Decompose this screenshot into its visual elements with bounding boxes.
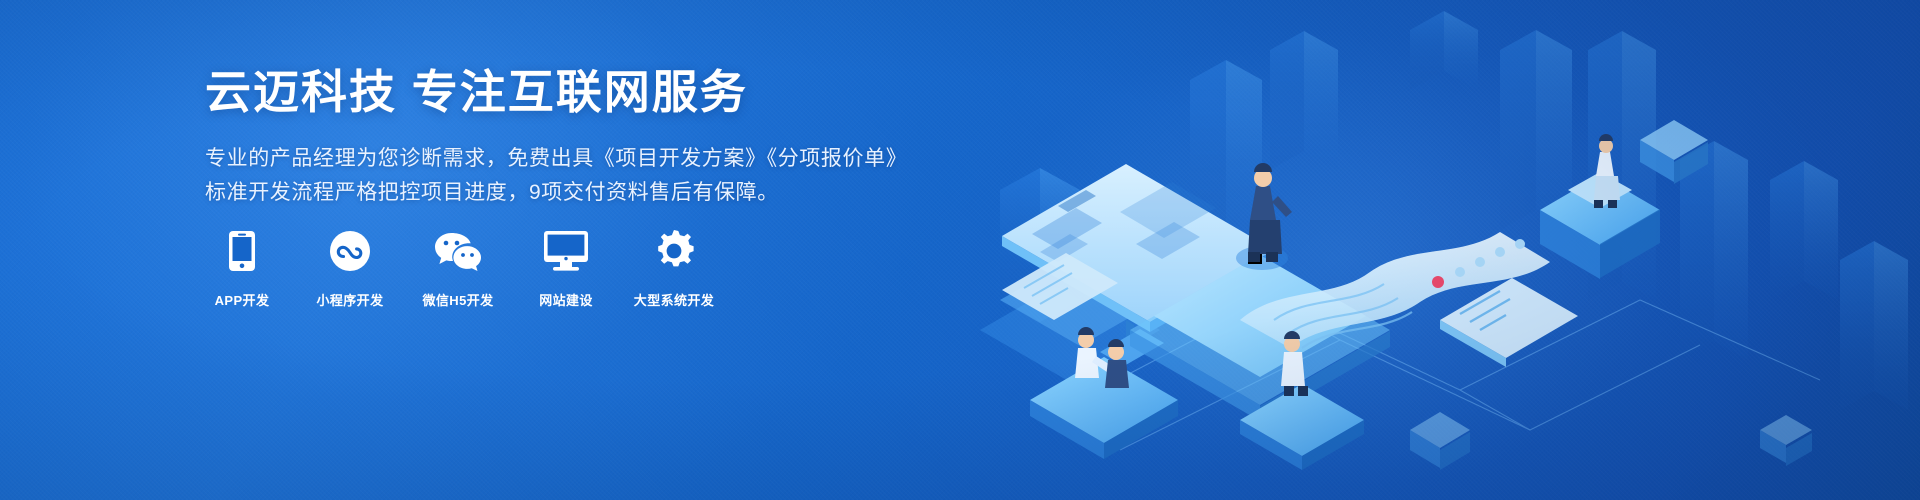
mini-program-icon [329,228,371,274]
service-label-large-system: 大型系统开发 [634,290,714,309]
service-item-website[interactable]: 网站建设 [528,228,604,309]
hero-banner: 云迈科技 专注互联网服务 专业的产品经理为您诊断需求，免费出具《项目开发方案》《… [0,0,1920,500]
monitor-icon [544,228,588,274]
service-label-website: 网站建设 [539,290,593,309]
service-label-mini-program: 小程序开发 [316,290,383,309]
service-list: APP开发 小程序开发 微信 [204,228,712,309]
service-label-wechat-h5: 微信H5开发 [422,290,493,309]
gear-icon [653,228,695,274]
subtitle-line-1: 专业的产品经理为您诊断需求，免费出具《项目开发方案》《分项报价单》 [205,142,925,176]
isometric-illustration [940,0,1920,500]
service-item-app[interactable]: APP开发 [204,228,280,309]
hero-subtitle: 专业的产品经理为您诊断需求，免费出具《项目开发方案》《分项报价单》 标准开发流程… [205,142,925,210]
wechat-icon [434,228,482,274]
page-title: 云迈科技 专注互联网服务 [205,64,925,122]
hero-copy: 云迈科技 专注互联网服务 专业的产品经理为您诊断需求，免费出具《项目开发方案》《… [205,64,925,210]
service-item-wechat-h5[interactable]: 微信H5开发 [420,228,496,309]
service-item-mini-program[interactable]: 小程序开发 [312,228,388,309]
service-label-app: APP开发 [215,290,270,309]
subtitle-line-2: 标准开发流程严格把控项目进度，9项交付资料售后有保障。 [205,176,925,210]
mobile-phone-icon [229,228,255,274]
service-item-large-system[interactable]: 大型系统开发 [636,228,712,309]
